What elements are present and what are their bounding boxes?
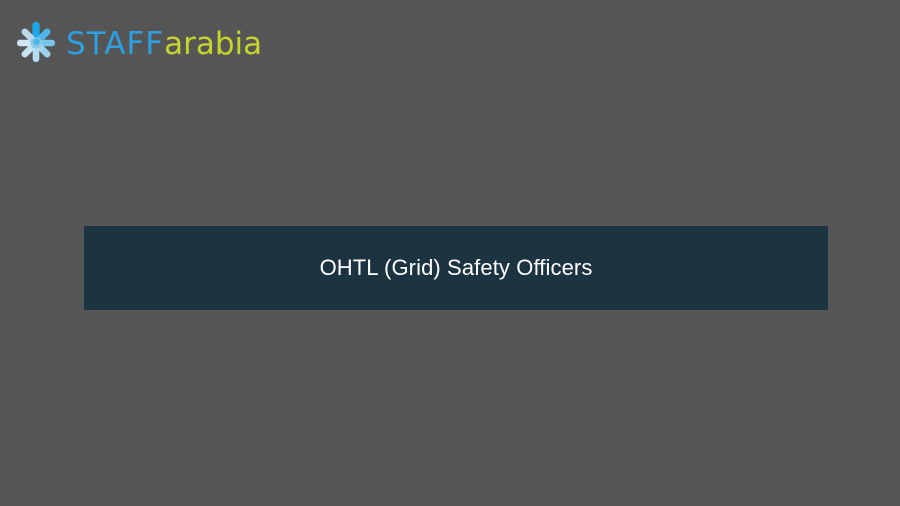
snowflake-icon (14, 21, 58, 65)
slide-title: OHTL (Grid) Safety Officers (320, 255, 593, 281)
logo-word-arabia: arabia (164, 29, 262, 60)
title-banner: OHTL (Grid) Safety Officers (84, 226, 828, 310)
slide-canvas: STAFFarabia OHTL (Grid) Safety Officers (0, 0, 900, 506)
staffarabia-logo[interactable]: STAFFarabia (14, 20, 262, 66)
logo-wordmark: STAFFarabia (66, 29, 262, 60)
logo-word-staff: STAFF (66, 29, 164, 60)
